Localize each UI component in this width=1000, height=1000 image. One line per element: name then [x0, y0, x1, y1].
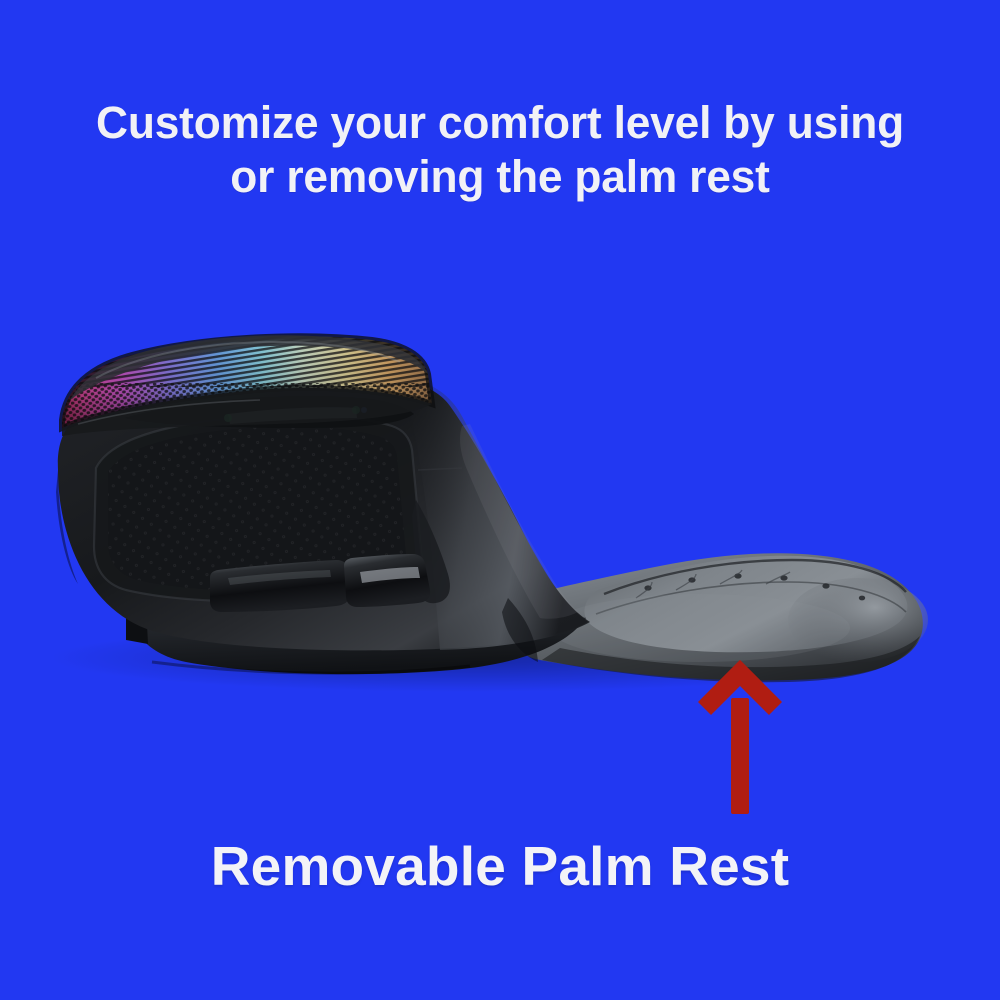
product-feature-image: Customize your comfort level by using or…: [0, 0, 1000, 1000]
vertical-mouse-photo: [0, 0, 1000, 1000]
thumb-button-forward[interactable]: [344, 554, 430, 607]
up-arrow-icon: [694, 658, 786, 818]
